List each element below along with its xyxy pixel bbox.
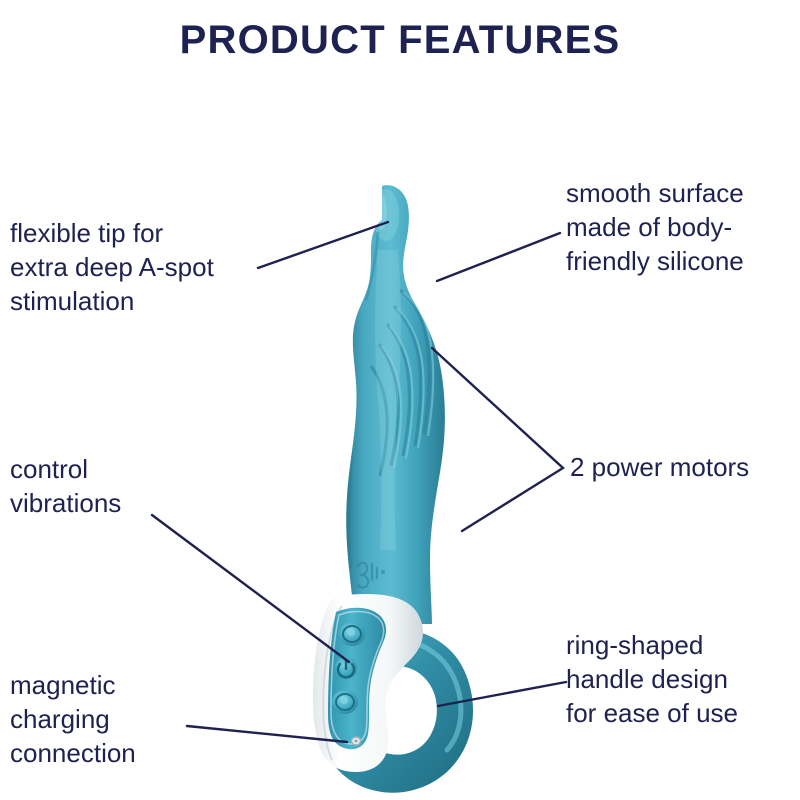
callout-control-vibrations: control vibrations — [10, 452, 240, 520]
callout-ring-handle: ring-shaped handle design for ease of us… — [566, 628, 800, 730]
power-button[interactable] — [335, 657, 357, 679]
increase-intensity-button[interactable] — [339, 622, 365, 646]
infographic-canvas: PRODUCT FEATURES — [0, 0, 800, 800]
product-body — [338, 185, 450, 624]
magnetic-charging-contact — [352, 737, 361, 745]
handle-panel — [313, 594, 423, 772]
callout-power-motors: 2 power motors — [570, 450, 800, 484]
callout-flexible-tip: flexible tip for extra deep A-spot stimu… — [10, 216, 290, 318]
callout-smooth-surface: smooth surface made of body- friendly si… — [566, 176, 800, 278]
callout-magnetic-charging: magnetic charging connection — [10, 668, 250, 770]
decrease-intensity-button[interactable] — [332, 690, 358, 714]
